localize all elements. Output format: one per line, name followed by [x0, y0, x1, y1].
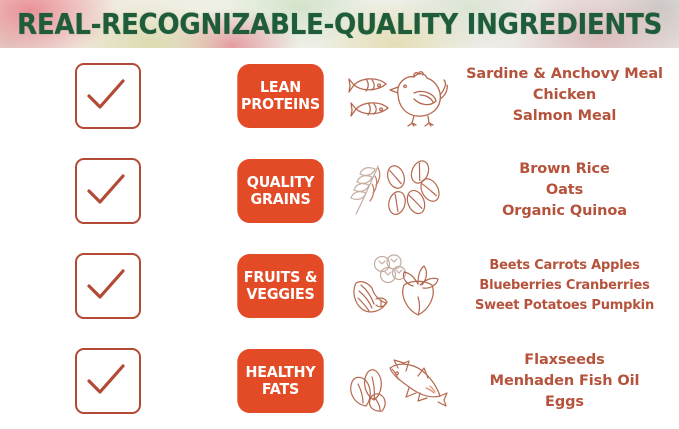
checkbox-cell	[0, 63, 215, 129]
table-row: HEALTHY FATS	[0, 333, 679, 429]
badge-line-2: GRAINS	[250, 191, 310, 208]
badge-cell: QUALITY GRAINS	[215, 159, 345, 223]
status-badge: LEAN PROTEINS	[237, 64, 323, 128]
status-badge: HEALTHY FATS	[237, 349, 323, 413]
status-badge: FRUITS & VEGGIES	[237, 254, 323, 318]
badge-cell: FRUITS & VEGGIES	[215, 254, 345, 318]
badge-line-1: FRUITS &	[243, 269, 316, 286]
icon-cell	[345, 65, 450, 127]
ingredient-line: Organic Quinoa	[502, 201, 627, 222]
checkmark-icon	[75, 348, 141, 414]
checkmark-icon	[75, 158, 141, 224]
badge-line-2: PROTEINS	[241, 96, 320, 113]
checkbox-cell	[0, 348, 215, 414]
table-row: QUALITY GRAINS	[0, 143, 679, 238]
badge-line-1: QUALITY	[246, 174, 313, 191]
ingredient-line: Menhaden Fish Oil	[490, 371, 640, 392]
badge-line-1: LEAN	[259, 79, 300, 96]
ingredient-line: Blueberries Cranberries	[479, 276, 649, 296]
checkbox-cell	[0, 253, 215, 319]
ingredient-rows: LEAN PROTEINS	[0, 48, 679, 429]
badge-line-2: FATS	[261, 381, 298, 398]
ingredient-line: Beets Carrots Apples	[489, 256, 639, 276]
ingredient-line: Salmon Meal	[513, 106, 617, 127]
table-row: FRUITS & VEGGIES	[0, 238, 679, 333]
ingredient-line: Eggs	[545, 392, 584, 413]
page-title: REAL-RECOGNIZABLE-QUALITY INGREDIENTS	[27, 0, 652, 48]
badge-line-1: HEALTHY	[245, 364, 315, 381]
flaxseed-and-fish-icon	[346, 348, 450, 414]
ingredient-line: Chicken	[533, 85, 596, 106]
sweet-potato-berries-beet-icon	[348, 251, 448, 321]
ingredient-line: Brown Rice	[519, 159, 610, 180]
badge-cell: LEAN PROTEINS	[215, 64, 345, 128]
ingredient-line: Sardine & Anchovy Meal	[466, 64, 663, 85]
ingredient-list: Sardine & Anchovy Meal Chicken Salmon Me…	[450, 64, 679, 127]
checkmark-icon	[75, 253, 141, 319]
ingredient-list: Beets Carrots Apples Blueberries Cranber…	[450, 256, 679, 316]
table-row: LEAN PROTEINS	[0, 48, 679, 143]
ingredient-line: Sweet Potatoes Pumpkin	[475, 296, 654, 316]
ingredient-list: Flaxseeds Menhaden Fish Oil Eggs	[450, 350, 679, 413]
checkmark-icon	[75, 63, 141, 129]
ingredient-line: Flaxseeds	[524, 350, 604, 371]
badge-cell: HEALTHY FATS	[215, 349, 345, 413]
icon-cell	[345, 348, 450, 414]
icon-cell	[345, 160, 450, 222]
checkbox-cell	[0, 158, 215, 224]
header-banner: REAL-RECOGNIZABLE-QUALITY INGREDIENTS	[0, 0, 679, 48]
icon-cell	[345, 251, 450, 321]
badge-line-2: VEGGIES	[246, 286, 314, 303]
ingredients-infographic: REAL-RECOGNIZABLE-QUALITY INGREDIENTS LE…	[0, 0, 679, 429]
status-badge: QUALITY GRAINS	[237, 159, 323, 223]
ingredient-line: Oats	[546, 180, 583, 201]
fish-and-chicken-icon	[348, 65, 448, 127]
ingredient-list: Brown Rice Oats Organic Quinoa	[450, 159, 679, 222]
wheat-and-grains-icon	[348, 160, 448, 222]
